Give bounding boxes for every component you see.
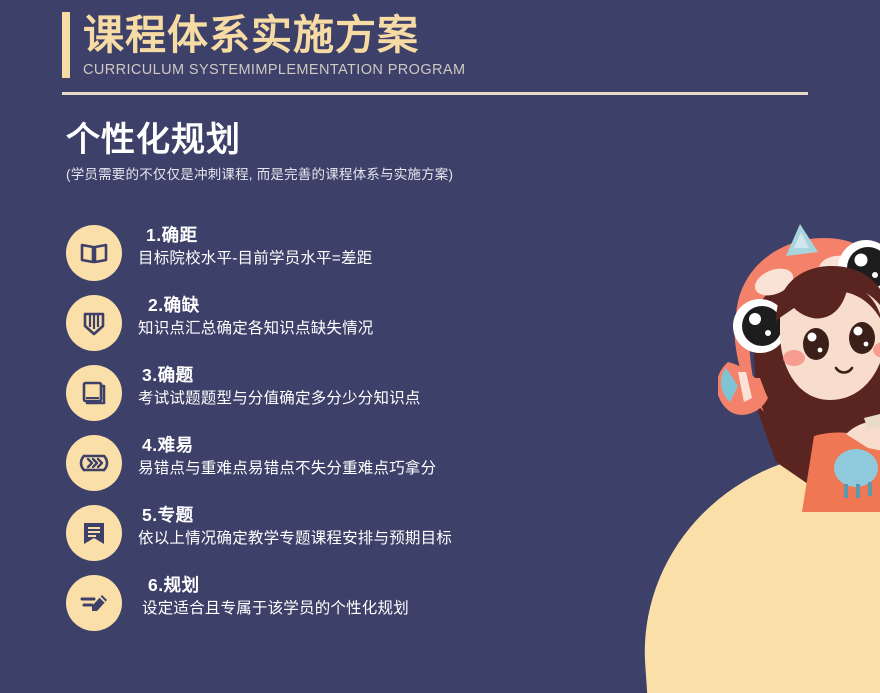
section-header: 个性化规划 (学员需要的不仅仅是冲刺课程, 而是完善的课程体系与实施方案) [66,118,453,184]
list-item[interactable]: 3.确题 考试试题题型与分值确定多分少分知识点 [66,362,666,432]
pencil-edit-icon [66,575,122,631]
rounded-square-accent [673,580,725,632]
slide-canvas: 课程体系实施方案 CURRICULUM SYSTEMIMPLEMENTATION… [0,0,880,693]
list-item-title: 6.规划 [138,574,409,597]
header-divider [62,92,808,95]
list-item-desc: 知识点汇总确定各知识点缺失情况 [138,317,374,341]
page-subtitle-en: CURRICULUM SYSTEMIMPLEMENTATION PROGRAM [83,61,465,79]
girl-with-fish-hood-illustration [718,222,880,512]
pencil-shield-icon [66,295,122,351]
list-item[interactable]: 1.确距 目标院校水平-目前学员水平=差距 [66,222,666,292]
fast-forward-icon [66,435,122,491]
list-item-desc: 考试试题题型与分值确定多分少分知识点 [138,387,421,411]
section-subheading: (学员需要的不仅仅是冲刺课程, 而是完善的课程体系与实施方案) [66,166,453,184]
header: 课程体系实施方案 CURRICULUM SYSTEMIMPLEMENTATION… [62,10,822,79]
bookmark-lines-icon [66,505,122,561]
list-item-desc: 易错点与重难点易错点不失分重难点巧拿分 [138,457,436,481]
list-item[interactable]: 5.专题 依以上情况确定教学专题课程安排与预期目标 [66,502,666,572]
section-heading: 个性化规划 [66,118,453,162]
header-title-row: 课程体系实施方案 CURRICULUM SYSTEMIMPLEMENTATION… [62,10,822,79]
list-item-title: 2.确缺 [138,294,374,317]
cream-curve-shape-base [728,600,880,693]
title-accent-bar [62,12,70,78]
list-item-title: 4.难易 [138,434,436,457]
list-item-desc: 依以上情况确定教学专题课程安排与预期目标 [138,527,452,551]
steps-list: 1.确距 目标院校水平-目前学员水平=差距 2.确缺 知识点汇总确定各知识点缺失… [66,222,666,642]
open-book-icon [66,225,122,281]
page-title: 课程体系实施方案 [83,10,465,60]
list-item[interactable]: 4.难易 易错点与重难点易错点不失分重难点巧拿分 [66,432,666,502]
list-item[interactable]: 2.确缺 知识点汇总确定各知识点缺失情况 [66,292,666,362]
list-item-desc: 设定适合且专属于该学员的个性化规划 [138,597,409,621]
list-item-title: 5.专题 [138,504,452,527]
list-item-title: 1.确距 [138,224,372,247]
list-item[interactable]: 6.规划 设定适合且专属于该学员的个性化规划 [66,572,666,642]
list-item-title: 3.确题 [138,364,421,387]
closed-book-icon [66,365,122,421]
list-item-desc: 目标院校水平-目前学员水平=差距 [138,247,372,271]
